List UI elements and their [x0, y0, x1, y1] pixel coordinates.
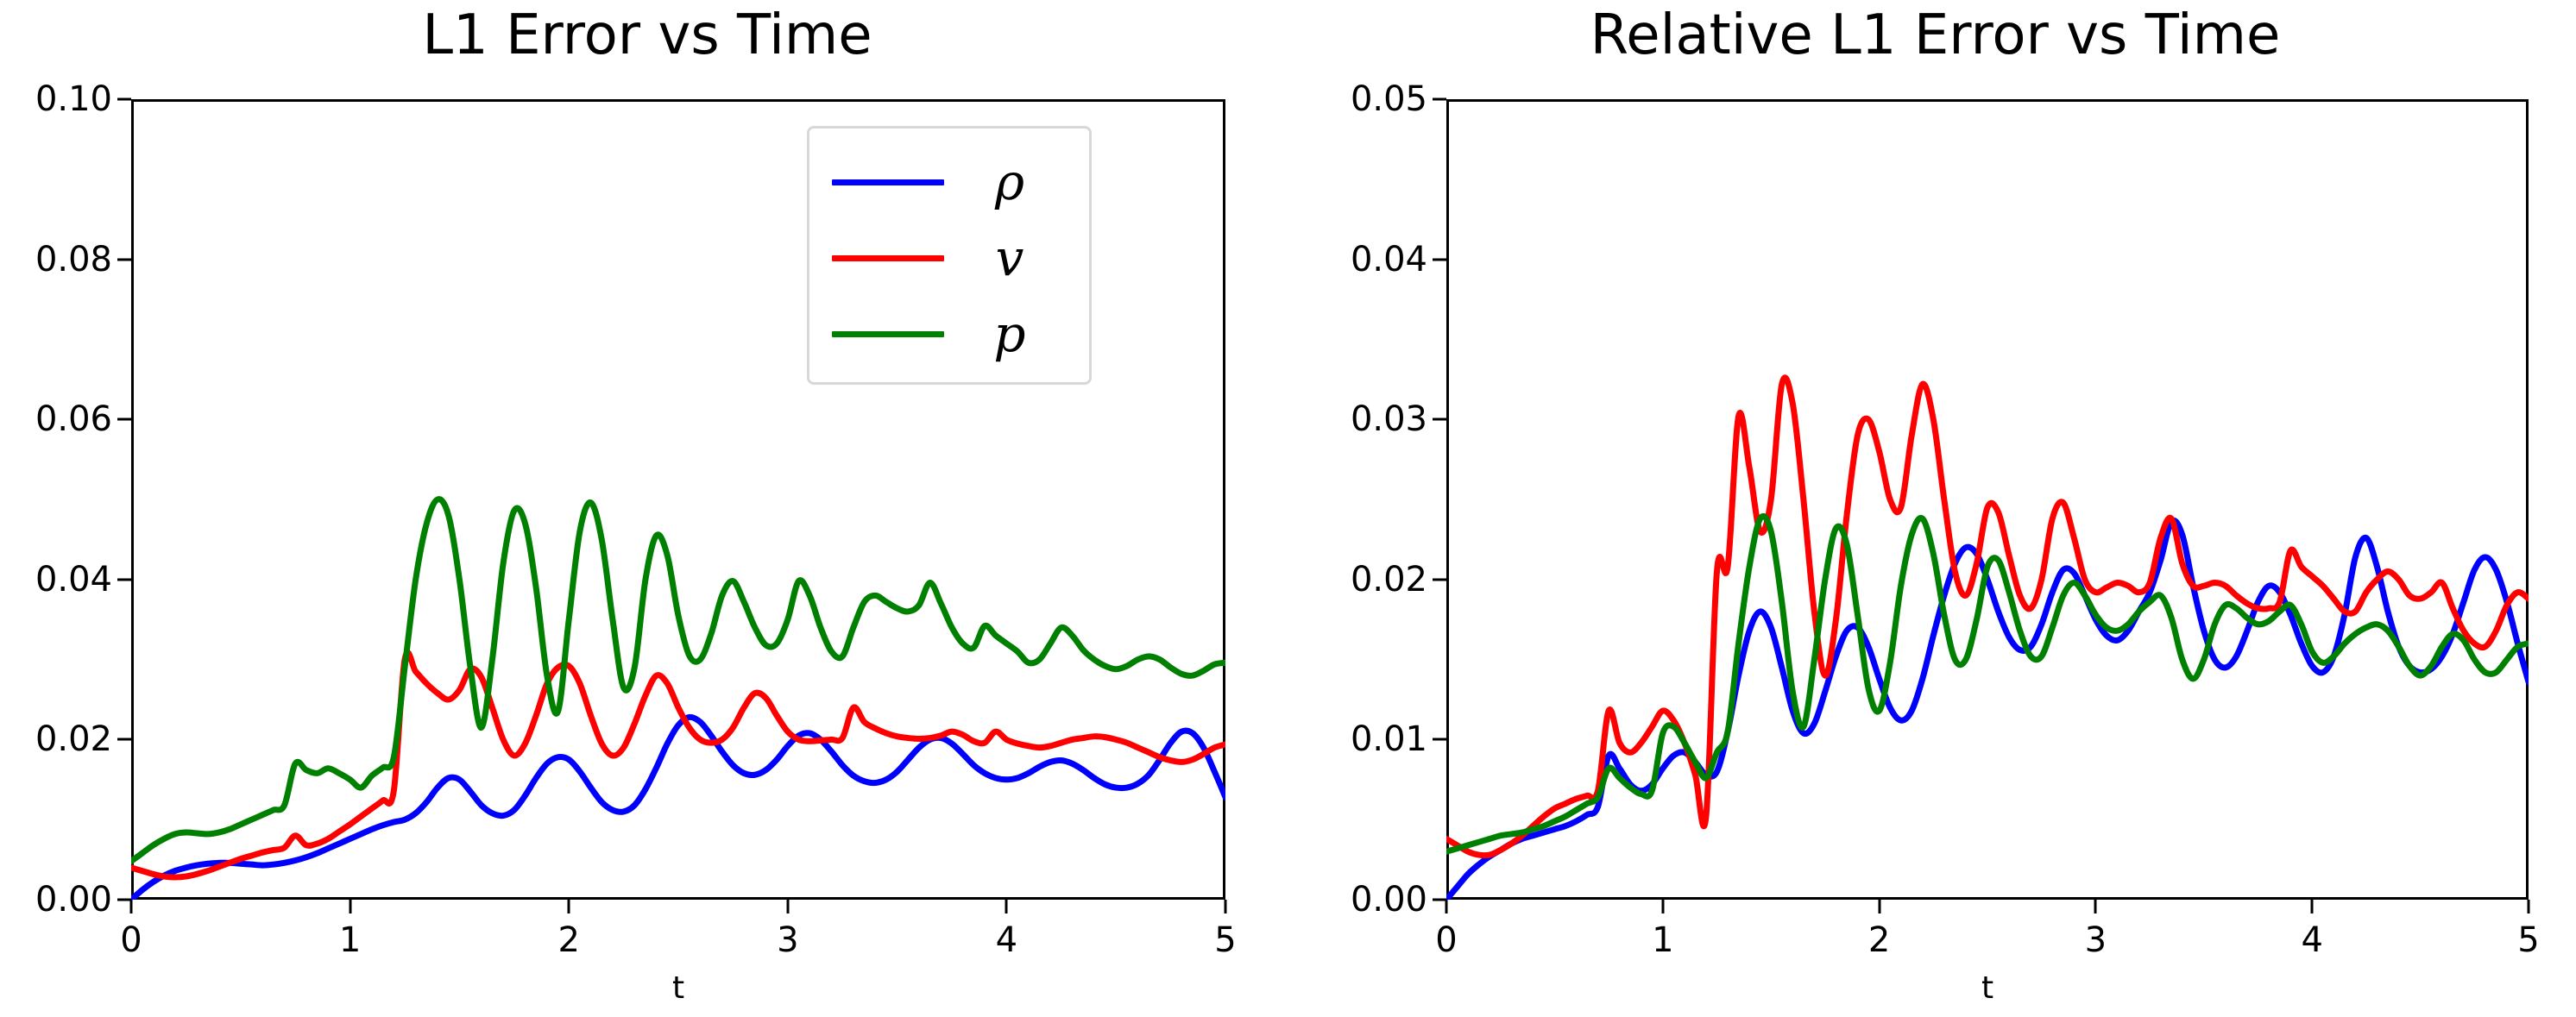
- y-tick-label: 0.02: [1351, 560, 1427, 600]
- x-tick-label: 2: [557, 920, 579, 960]
- y-tick-label: 0.03: [1351, 399, 1427, 439]
- x-tick-mark: [1878, 900, 1880, 913]
- y-tick-mark: [117, 738, 131, 741]
- y-tick-mark: [117, 578, 131, 581]
- panel-relative-l1-error: Relative L1 Error vs Time 0.000.010.020.…: [1294, 0, 2576, 1017]
- legend-item-ρ: ρ: [832, 144, 1067, 220]
- x-tick-mark: [2311, 900, 2314, 913]
- x-tick-mark: [568, 900, 570, 913]
- plot-area-right: [1446, 99, 2529, 900]
- x-tick-label: 4: [996, 920, 1017, 960]
- series-line-p: [131, 499, 1225, 862]
- y-tick-label: 0.08: [35, 240, 112, 279]
- x-tick-label: 3: [2085, 920, 2107, 960]
- panel-title-right: Relative L1 Error vs Time: [1294, 3, 2576, 67]
- y-tick-label: 0.06: [35, 399, 112, 439]
- y-tick-mark: [1433, 98, 1446, 101]
- y-tick-label: 0.05: [1351, 79, 1427, 119]
- x-tick-mark: [2528, 900, 2530, 913]
- x-axis-label-left: t: [672, 970, 684, 1006]
- y-tick-mark: [117, 258, 131, 261]
- y-tick-label: 0.10: [35, 79, 112, 119]
- x-tick-mark: [349, 900, 351, 913]
- legend-color-swatch: [832, 179, 944, 185]
- y-tick-mark: [1433, 738, 1446, 741]
- y-tick-label: 0.00: [1351, 880, 1427, 920]
- legend-color-swatch: [832, 255, 944, 261]
- x-tick-label: 1: [339, 920, 361, 960]
- y-tick-label: 0.04: [1351, 240, 1427, 279]
- curves-right: [1446, 99, 2529, 900]
- legend-item-p: p: [832, 296, 1067, 372]
- series-line-v: [1446, 378, 2529, 856]
- y-tick-mark: [1433, 578, 1446, 581]
- y-tick-label: 0.04: [35, 560, 112, 600]
- x-tick-mark: [130, 900, 133, 913]
- x-tick-mark: [1661, 900, 1664, 913]
- y-tick-label: 0.01: [1351, 719, 1427, 759]
- legend-label: ρ: [944, 157, 1067, 207]
- y-tick-mark: [1433, 258, 1446, 261]
- x-tick-label: 0: [120, 920, 142, 960]
- x-tick-mark: [1225, 900, 1227, 913]
- legend-left: ρvp: [807, 126, 1092, 385]
- x-tick-mark: [786, 900, 789, 913]
- line-chart-svg-right: [1446, 99, 2529, 900]
- legend-item-v: v: [832, 220, 1067, 296]
- x-tick-label: 5: [1214, 920, 1236, 960]
- y-tick-label: 0.02: [35, 719, 112, 759]
- legend-color-swatch: [832, 331, 944, 337]
- x-tick-label: 3: [777, 920, 798, 960]
- y-tick-mark: [1433, 418, 1446, 421]
- figure-canvas: L1 Error vs Time 0.000.020.040.060.080.1…: [0, 0, 2576, 1017]
- x-tick-label: 0: [1435, 920, 1457, 960]
- x-tick-mark: [1005, 900, 1008, 913]
- panel-l1-error: L1 Error vs Time 0.000.020.040.060.080.1…: [0, 0, 1294, 1017]
- x-tick-label: 2: [1868, 920, 1890, 960]
- y-tick-label: 0.00: [35, 880, 112, 920]
- x-tick-mark: [2094, 900, 2097, 913]
- panel-title-left: L1 Error vs Time: [0, 3, 1294, 67]
- y-tick-mark: [117, 418, 131, 421]
- x-tick-label: 4: [2301, 920, 2322, 960]
- x-tick-label: 5: [2517, 920, 2539, 960]
- legend-label: p: [944, 309, 1067, 359]
- x-tick-label: 1: [1652, 920, 1673, 960]
- series-line-p: [1446, 516, 2529, 851]
- x-axis-label-right: t: [1981, 970, 1993, 1006]
- x-tick-mark: [1445, 900, 1448, 913]
- legend-label: v: [944, 233, 1067, 283]
- y-tick-mark: [117, 98, 131, 101]
